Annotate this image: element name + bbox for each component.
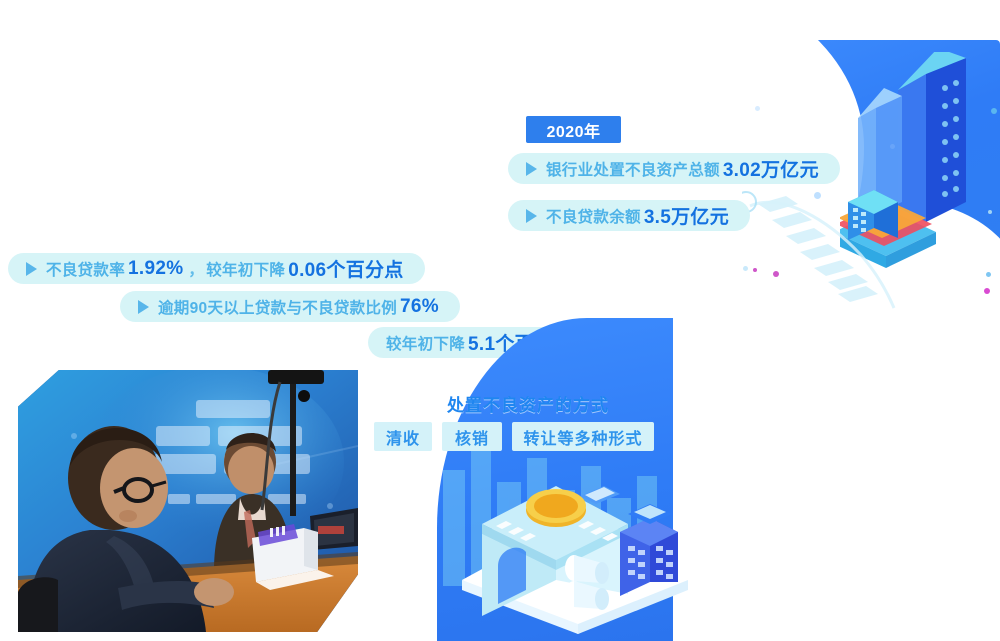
infographic-canvas: 2020年 银行业处置不良资产总额 3.02万亿元 不良贷款余额 3.5万亿元 … (0, 0, 1000, 641)
stat-label-secondary: 较年初下降 (206, 258, 285, 280)
method-chip-hexiao[interactable]: 核销 (442, 422, 502, 451)
stat-pill-npl-ratio: 不良贷款率 1.92% ， 较年初下降 0.06个百分点 (8, 253, 425, 284)
stat-value: 1.92% (128, 258, 183, 280)
stat-separator: ， (188, 258, 204, 280)
stat-label: 较年初下降 (386, 332, 465, 354)
stat-value: 3.02万亿元 (723, 155, 819, 182)
stat-value: 76% (400, 296, 439, 318)
stat-value-secondary: 0.06个百分点 (288, 255, 403, 282)
stat-value: 3.5万亿元 (644, 202, 729, 229)
triangle-right-icon (26, 262, 37, 276)
conference-photo (18, 370, 358, 632)
descending-steps-decoration (742, 190, 902, 320)
triangle-right-icon (526, 162, 537, 176)
decor-dot (986, 272, 991, 277)
stat-pill-npl-balance: 不良贷款余额 3.5万亿元 (508, 200, 750, 231)
stat-pill-overdue-ratio: 逾期90天以上贷款与不良贷款比例 76% (120, 291, 460, 322)
triangle-right-icon (138, 300, 149, 314)
photo-content (18, 370, 358, 632)
methods-title: 处置不良资产的方式 (447, 391, 609, 416)
stat-label: 不良贷款余额 (546, 205, 641, 227)
year-badge: 2020年 (526, 116, 621, 143)
stat-label: 不良贷款率 (46, 258, 125, 280)
method-chip-zhuanrang[interactable]: 转让等多种形式 (512, 422, 654, 451)
stat-pill-total-disposal: 银行业处置不良资产总额 3.02万亿元 (508, 153, 840, 184)
stat-label: 逾期90天以上贷款与不良贷款比例 (158, 296, 397, 318)
method-chip-qingshou[interactable]: 清收 (374, 422, 432, 451)
decor-dot (755, 106, 760, 111)
triangle-right-icon (526, 209, 537, 223)
stat-label: 银行业处置不良资产总额 (546, 158, 720, 180)
decor-dot (984, 288, 990, 294)
isometric-bank-illustration (452, 462, 698, 634)
